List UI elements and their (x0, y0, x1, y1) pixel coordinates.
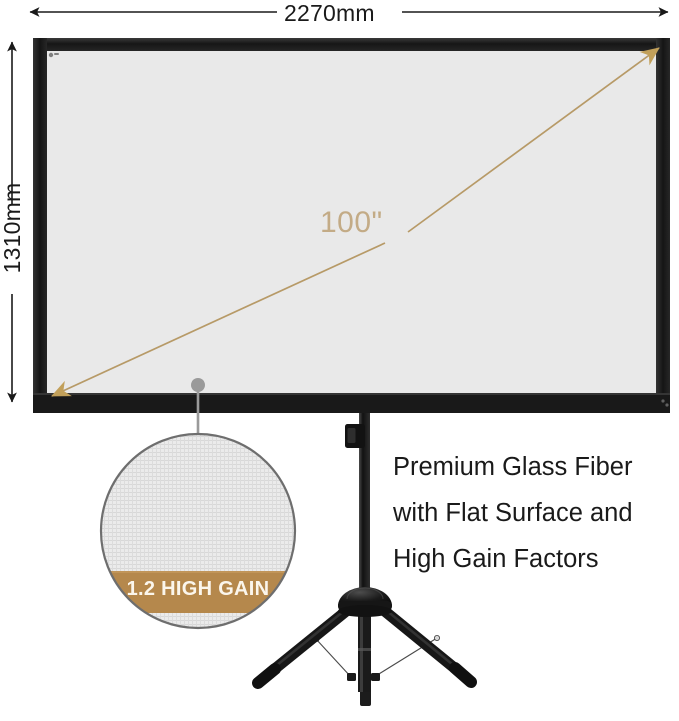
product-diagram: 2270mm 1310mm 100" 1.2 HIGH GAIN Premium… (0, 0, 679, 721)
feature-copy-line-1: Premium Glass Fiber (393, 444, 679, 490)
gain-badge-label: 1.2 HIGH GAIN (98, 578, 298, 601)
diagonal-size-label: 100" (320, 206, 383, 240)
feature-copy-line-3: High Gain Factors (393, 536, 679, 582)
feature-copy-line-2: with Flat Surface and (393, 490, 679, 536)
left-foot (258, 669, 275, 683)
height-clamp (345, 424, 365, 448)
height-dimension-label: 1310mm (0, 173, 26, 283)
center-pole-foot (360, 690, 371, 706)
center-leg (358, 606, 371, 692)
width-dimension-label: 2270mm (284, 0, 375, 27)
right-foot (455, 668, 471, 682)
tripod-hub (338, 587, 392, 617)
right-leg (381, 606, 471, 682)
feature-copy-block: Premium Glass Fiber with Flat Surface an… (393, 444, 679, 582)
diagram-canvas (0, 0, 679, 721)
left-leg (258, 606, 350, 683)
callout-pin-dot (191, 378, 205, 392)
